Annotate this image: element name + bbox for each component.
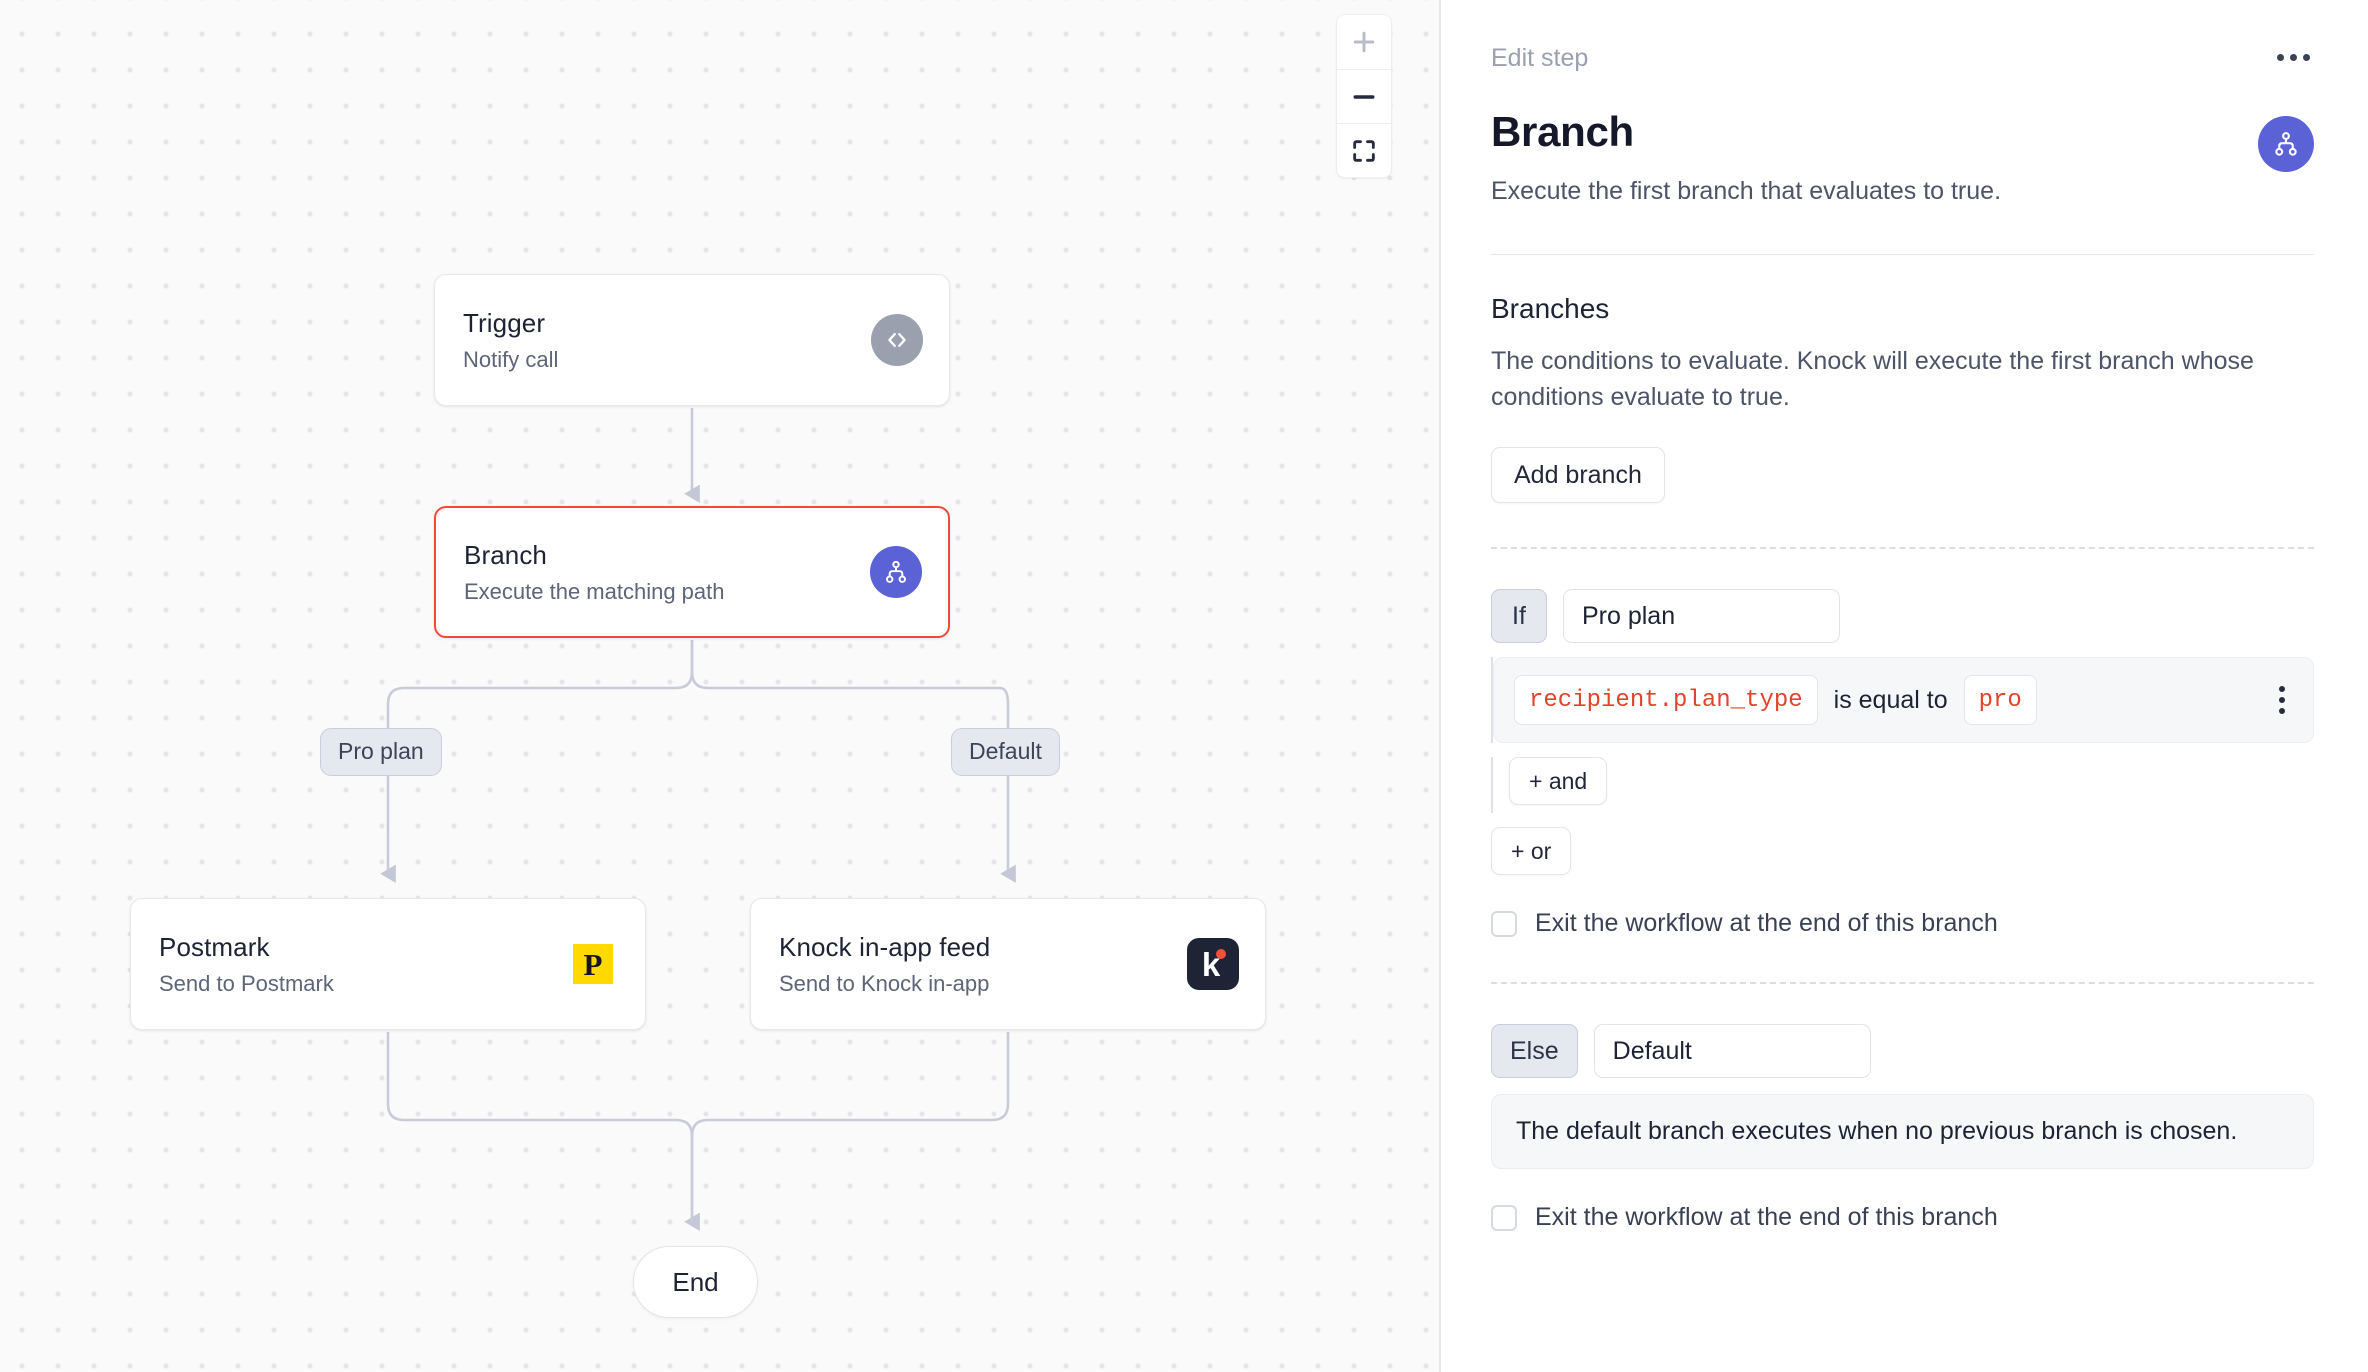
- else-exit-workflow-checkbox[interactable]: [1491, 1205, 1517, 1231]
- add-and-row: + and: [1491, 757, 2314, 813]
- else-exit-workflow-label: Exit the workflow at the end of this bra…: [1535, 1203, 1998, 1232]
- node-trigger-texts: Trigger Notify call: [463, 307, 853, 374]
- else-branch-row: Else: [1491, 1024, 2314, 1078]
- fit-view-icon: [1350, 137, 1378, 165]
- if-condition-group: recipient.plan_type is equal to pro: [1491, 657, 2314, 743]
- node-branch-texts: Branch Execute the matching path: [464, 539, 852, 606]
- zoom-in-button[interactable]: [1337, 15, 1391, 69]
- node-branch-subtitle: Execute the matching path: [464, 578, 852, 606]
- condition-operator[interactable]: is equal to: [1834, 686, 1948, 715]
- workflow-canvas[interactable]: Trigger Notify call Branch Execute the m…: [0, 0, 1441, 1372]
- dot: [2279, 708, 2285, 714]
- branch-section-divider: [1491, 547, 2314, 549]
- panel-header: Branch Execute the first branch that eva…: [1491, 109, 2314, 208]
- zoom-out-button[interactable]: [1337, 69, 1391, 123]
- add-or-condition-button[interactable]: + or: [1491, 827, 1571, 875]
- dot: [2277, 54, 2284, 61]
- add-and-condition-button[interactable]: + and: [1509, 757, 1607, 805]
- node-knock-title: Knock in-app feed: [779, 931, 1169, 964]
- branch-icon[interactable]: [2258, 116, 2314, 172]
- panel-divider: [1491, 254, 2314, 255]
- workflow-edges: [0, 0, 1441, 1372]
- edge-label-default[interactable]: Default: [951, 728, 1060, 776]
- node-knock-subtitle: Send to Knock in-app: [779, 970, 1169, 998]
- panel-header-texts: Branch Execute the first branch that eva…: [1491, 109, 2001, 208]
- dot: [2279, 686, 2285, 692]
- branches-description: The conditions to evaluate. Knock will e…: [1491, 343, 2314, 416]
- node-branch[interactable]: Branch Execute the matching path: [434, 506, 950, 638]
- app-root: Trigger Notify call Branch Execute the m…: [0, 0, 2368, 1372]
- code-brackets-icon: [871, 314, 923, 366]
- node-branch-icon-wrap: [870, 546, 922, 598]
- branches-heading: Branches: [1491, 293, 2314, 325]
- if-branch-row: If: [1491, 589, 2314, 643]
- node-knock-icon-wrap: k: [1187, 938, 1239, 990]
- postmark-stamp-icon: P: [567, 938, 619, 990]
- if-branch-name-input[interactable]: [1563, 589, 1840, 643]
- panel-eyebrow: Edit step: [1491, 44, 1588, 73]
- node-trigger-title: Trigger: [463, 307, 853, 340]
- zoom-out-icon: [1349, 82, 1379, 112]
- if-keyword-pill[interactable]: If: [1491, 589, 1547, 643]
- else-section-divider: [1491, 982, 2314, 984]
- node-postmark-subtitle: Send to Postmark: [159, 970, 549, 998]
- page-title: Branch: [1491, 109, 2001, 155]
- node-trigger[interactable]: Trigger Notify call: [434, 274, 950, 406]
- node-end[interactable]: End: [633, 1246, 758, 1318]
- node-trigger-icon-wrap: [871, 314, 923, 366]
- zoom-in-icon: [1349, 27, 1379, 57]
- zoom-controls: [1336, 14, 1392, 178]
- node-postmark-icon-wrap: P: [567, 938, 619, 990]
- edge-knock-to-end: [692, 1032, 1008, 1222]
- edge-postmark-to-end: [388, 1032, 692, 1222]
- node-postmark-texts: Postmark Send to Postmark: [159, 931, 549, 998]
- fit-view-button[interactable]: [1337, 123, 1391, 177]
- panel-top-bar: Edit step: [1491, 44, 2314, 73]
- edit-step-panel: Edit step Branch Execute the first branc…: [1441, 0, 2366, 1372]
- add-branch-button[interactable]: Add branch: [1491, 447, 1665, 503]
- edge-label-pro-plan[interactable]: Pro plan: [320, 728, 442, 776]
- node-trigger-subtitle: Notify call: [463, 346, 853, 374]
- condition-rail: [1491, 757, 1493, 813]
- condition-options-icon[interactable]: [2269, 678, 2295, 722]
- node-postmark-title: Postmark: [159, 931, 549, 964]
- panel-description: Execute the first branch that evaluates …: [1491, 175, 2001, 208]
- dot: [2290, 54, 2297, 61]
- node-postmark[interactable]: Postmark Send to Postmark P: [130, 898, 646, 1030]
- branch-glyph: [2271, 129, 2301, 159]
- node-branch-title: Branch: [464, 539, 852, 572]
- branch-icon: [870, 546, 922, 598]
- condition-value-chip[interactable]: pro: [1964, 675, 2037, 725]
- if-exit-workflow-row[interactable]: Exit the workflow at the end of this bra…: [1491, 909, 2314, 938]
- if-exit-workflow-checkbox[interactable]: [1491, 911, 1517, 937]
- knock-logo-icon: k: [1187, 938, 1239, 990]
- postmark-stamp-letter: P: [573, 944, 613, 984]
- dot: [2279, 697, 2285, 703]
- condition-body: recipient.plan_type is equal to pro: [1493, 657, 2314, 743]
- default-branch-note: The default branch executes when no prev…: [1491, 1094, 2314, 1169]
- condition-row[interactable]: recipient.plan_type is equal to pro: [1493, 657, 2314, 743]
- else-exit-workflow-row[interactable]: Exit the workflow at the end of this bra…: [1491, 1203, 2314, 1232]
- else-keyword-pill[interactable]: Else: [1491, 1024, 1578, 1078]
- dot: [2303, 54, 2310, 61]
- node-knock-in-app-feed[interactable]: Knock in-app feed Send to Knock in-app k: [750, 898, 1266, 1030]
- knock-logo-dot: [1216, 949, 1226, 959]
- more-options-icon[interactable]: [2273, 44, 2314, 71]
- condition-variable-chip[interactable]: recipient.plan_type: [1514, 675, 1818, 725]
- node-knock-texts: Knock in-app feed Send to Knock in-app: [779, 931, 1169, 998]
- if-exit-workflow-label: Exit the workflow at the end of this bra…: [1535, 909, 1998, 938]
- else-branch-name-input[interactable]: [1594, 1024, 1871, 1078]
